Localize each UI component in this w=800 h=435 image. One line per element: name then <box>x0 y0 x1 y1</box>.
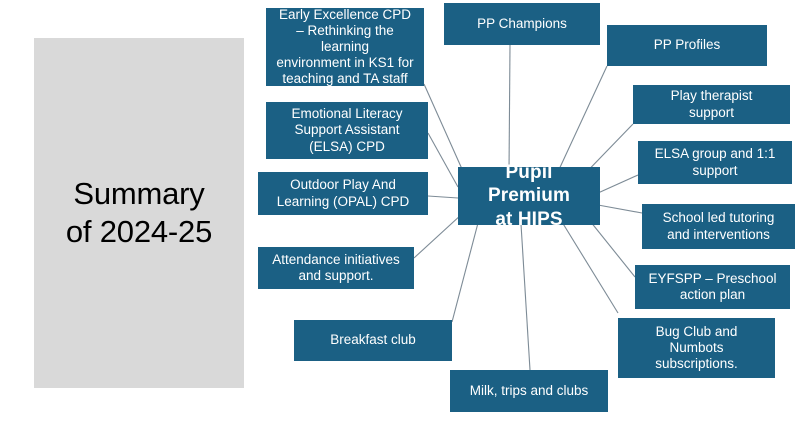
node-center-pupil-premium[interactable]: Pupil Premium at HIPS <box>458 167 600 225</box>
connector-school-led-tutoring <box>598 205 642 213</box>
connector-bug-club <box>562 222 618 313</box>
connector-emotional-literacy <box>428 133 458 187</box>
connector-pp-champions <box>509 45 510 172</box>
node-eyfspp-preschool-action-plan[interactable]: EYFSPP – Preschool action plan <box>635 265 790 309</box>
node-label: Bug Club and Numbots subscriptions. <box>655 324 738 373</box>
connector-elsa-group <box>598 175 638 193</box>
node-label: Emotional Literacy Support Assistant (EL… <box>291 106 402 155</box>
node-milk-trips-and-clubs[interactable]: Milk, trips and clubs <box>450 370 608 412</box>
node-early-excellence-cpd[interactable]: Early Excellence CPD – Rethinking the le… <box>266 8 424 86</box>
node-school-led-tutoring[interactable]: School led tutoring and interventions <box>642 204 795 249</box>
node-pp-profiles[interactable]: PP Profiles <box>607 25 767 66</box>
summary-title: Summary of 2024-25 <box>66 175 212 251</box>
node-center-label: Pupil Premium at HIPS <box>464 161 594 231</box>
connector-pp-profiles <box>556 66 607 176</box>
node-pp-champions[interactable]: PP Champions <box>444 3 600 45</box>
node-outdoor-play-and-learning-opal-cpd[interactable]: Outdoor Play And Learning (OPAL) CPD <box>258 172 428 215</box>
node-label: Early Excellence CPD – Rethinking the le… <box>272 7 418 88</box>
node-label: School led tutoring and interventions <box>663 210 775 242</box>
node-label: PP Profiles <box>654 37 721 53</box>
node-elsa-group-and-1-1-support[interactable]: ELSA group and 1:1 support <box>638 141 792 184</box>
node-play-therapist-support[interactable]: Play therapist support <box>633 85 790 124</box>
slide-canvas: Summary of 2024-25 Pupil Premium at HIPS… <box>0 0 800 435</box>
connector-opal-cpd <box>428 196 458 198</box>
connector-early-excellence-cpd <box>424 84 466 178</box>
node-label: ELSA group and 1:1 support <box>655 146 776 178</box>
node-attendance-initiatives[interactable]: Attendance initiatives and support. <box>258 247 414 289</box>
connector-breakfast-club <box>452 223 478 322</box>
connector-milk-trips <box>521 224 530 370</box>
connector-attendance <box>414 214 462 258</box>
summary-panel: Summary of 2024-25 <box>34 38 244 388</box>
node-breakfast-club[interactable]: Breakfast club <box>294 320 452 361</box>
node-label: Milk, trips and clubs <box>470 383 589 399</box>
node-label: PP Champions <box>477 16 567 32</box>
node-bug-club-and-numbots[interactable]: Bug Club and Numbots subscriptions. <box>618 318 775 378</box>
node-label: Play therapist support <box>671 88 753 120</box>
node-emotional-literacy-support-assistant-elsa-cpd[interactable]: Emotional Literacy Support Assistant (EL… <box>266 102 428 159</box>
node-label: Outdoor Play And Learning (OPAL) CPD <box>277 177 410 209</box>
node-label: Breakfast club <box>330 332 416 348</box>
node-label: Attendance initiatives and support. <box>272 252 400 284</box>
node-label: EYFSPP – Preschool action plan <box>648 271 776 303</box>
